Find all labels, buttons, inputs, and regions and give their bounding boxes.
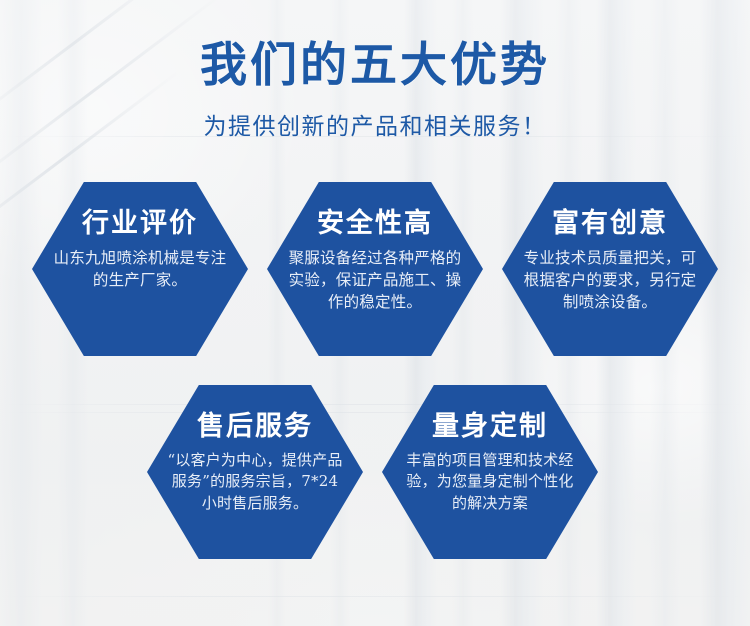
headings: 我们的五大优势 为提供创新的产品和相关服务！ [0,40,750,141]
advantage-title: 售后服务 [197,413,313,440]
advantage-title: 行业评价 [82,210,198,237]
advantage-title: 富有创意 [552,210,668,237]
advantage-title: 安全性高 [317,210,433,237]
advantage-body: 聚脲设备经过各种严格的实验，保证产品施工、操作的稳定性。 [277,247,473,313]
advantage-title: 量身定制 [432,413,548,440]
advantage-body: “以客户为中心，提供产品服务”的服务宗旨，7*24小时售后服务。 [157,450,353,514]
advantage-body: 山东九旭喷涂机械是专注的生产厂家。 [42,247,238,291]
page-title: 我们的五大优势 [0,40,750,93]
page-subtitle: 为提供创新的产品和相关服务！ [0,107,750,141]
advantage-body: 丰富的项目管理和技术经验，为您量身定制个性化的解决方案 [392,450,588,514]
advantage-body: 专业技术员质量把关，可根据客户的要求，另行定制喷涂设备。 [512,247,708,313]
promo-banner: 我们的五大优势 为提供创新的产品和相关服务！ 行业评价 山东九旭喷涂机械是专注的… [0,0,750,626]
